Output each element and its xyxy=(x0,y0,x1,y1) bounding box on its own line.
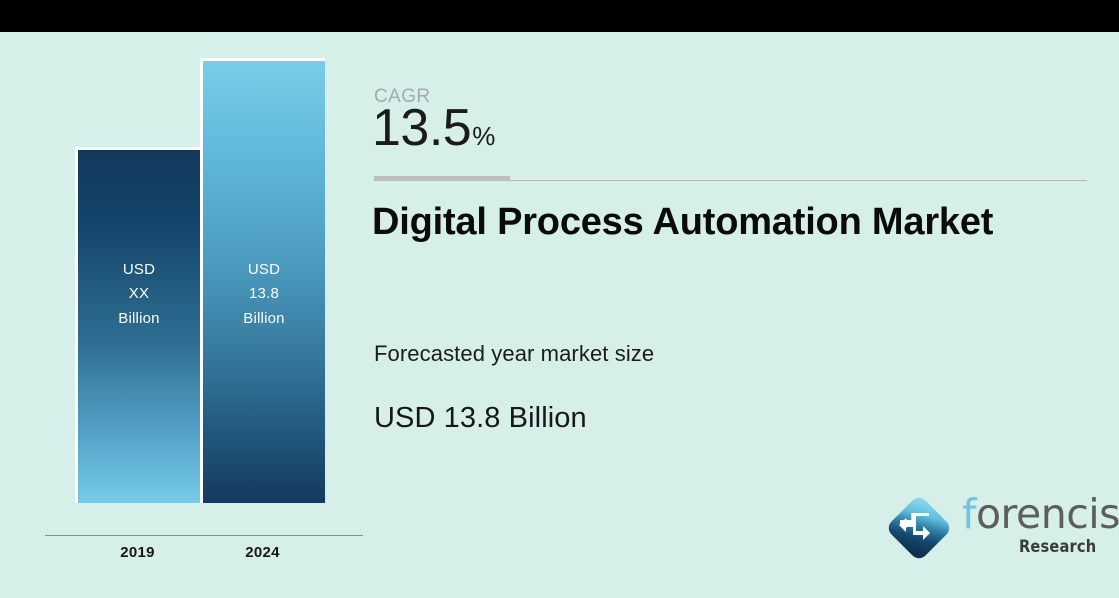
forecast-value: USD 13.8 Billion xyxy=(374,402,587,435)
bar-2019-label-line-3: Billion xyxy=(78,307,200,331)
bar-2019-label-line-1: USD xyxy=(78,258,200,282)
slide-root: USD XX Billion USD 13.8 Billion 2019 202… xyxy=(0,0,1119,598)
page-title: Digital Process Automation Market xyxy=(372,199,1012,245)
forencis-diamond-logo-icon xyxy=(882,491,956,565)
bar-2019: USD XX Billion xyxy=(75,147,200,503)
logo-wordmark-initial: f xyxy=(962,490,976,538)
bar-2024-label-line-1: USD xyxy=(203,258,325,282)
x-tick-2019: 2019 xyxy=(75,544,200,561)
bar-2019-value-label: USD XX Billion xyxy=(78,258,200,331)
bar-chart: USD XX Billion USD 13.8 Billion 2019 202… xyxy=(0,32,370,598)
bar-2024: USD 13.8 Billion xyxy=(200,58,325,503)
divider-accent-segment xyxy=(374,176,510,181)
bar-2024-value-label: USD 13.8 Billion xyxy=(203,258,325,331)
bar-2024-label-line-3: Billion xyxy=(203,307,325,331)
info-panel: CAGR 13.5 % Digital Process Automation M… xyxy=(372,32,1119,598)
cagr-value-row: 13.5 % xyxy=(372,102,495,154)
x-tick-2024: 2024 xyxy=(200,544,325,561)
cagr-value: 13.5 xyxy=(372,102,471,154)
forecast-subtitle: Forecasted year market size xyxy=(374,341,654,367)
logo-subtext: Research xyxy=(1019,537,1096,557)
top-black-band xyxy=(0,0,1119,32)
cagr-percent-sign: % xyxy=(472,123,495,149)
bar-2019-label-line-2: XX xyxy=(78,282,200,306)
logo-wordmark: forencis xyxy=(962,494,1119,535)
forencis-research-logo: forencis Research xyxy=(882,487,1096,571)
bar-2024-label-line-2: 13.8 xyxy=(203,282,325,306)
chart-axis-line xyxy=(45,535,363,536)
logo-wordmark-rest: orencis xyxy=(976,490,1119,538)
